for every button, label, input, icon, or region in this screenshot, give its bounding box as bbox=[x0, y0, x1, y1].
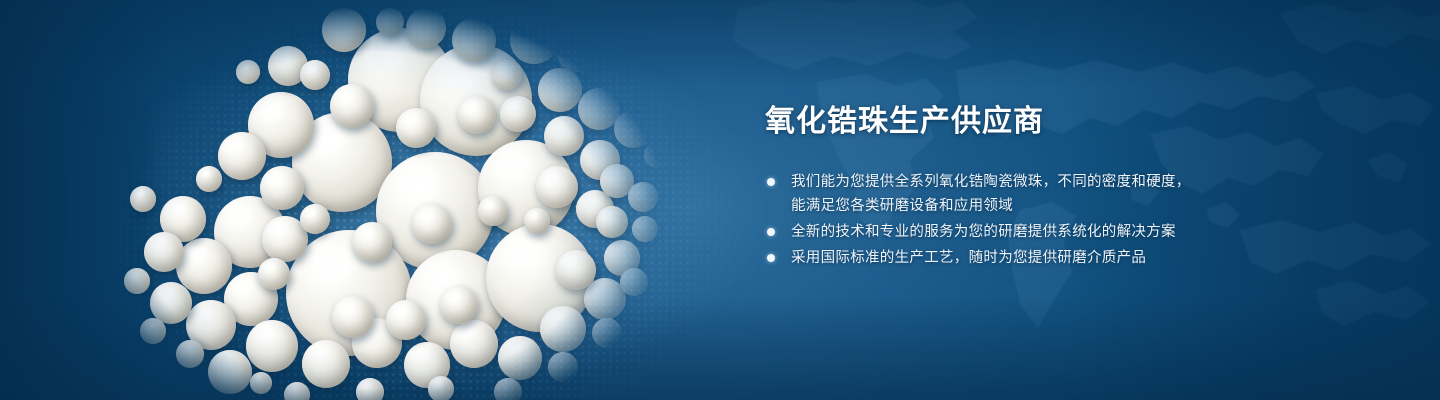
banner-content: 氧化锆珠生产供应商 我们能为您提供全系列氧化锆陶瓷微珠，不同的密度和硬度， 能满… bbox=[765, 104, 1385, 272]
list-item: 全新的技术和专业的服务为您的研磨提供系统化的解决方案 bbox=[765, 220, 1385, 244]
list-item: 我们能为您提供全系列氧化锆陶瓷微珠，不同的密度和硬度， 能满足您各类研磨设备和应… bbox=[765, 170, 1385, 218]
page-title: 氧化锆珠生产供应商 bbox=[765, 104, 1385, 140]
list-item-line: 全新的技术和专业的服务为您的研磨提供系统化的解决方案 bbox=[791, 220, 1385, 244]
list-item-line: 采用国际标准的生产工艺，随时为您提供研磨介质产品 bbox=[791, 246, 1385, 270]
bullet-dot-icon bbox=[767, 254, 775, 262]
zirconia-beads-image bbox=[0, 0, 740, 400]
bullet-dot-icon bbox=[767, 228, 775, 236]
list-item: 采用国际标准的生产工艺，随时为您提供研磨介质产品 bbox=[765, 246, 1385, 270]
feature-list: 我们能为您提供全系列氧化锆陶瓷微珠，不同的密度和硬度， 能满足您各类研磨设备和应… bbox=[765, 170, 1385, 270]
bullet-dot-icon bbox=[767, 178, 775, 186]
list-item-line: 能满足您各类研磨设备和应用领域 bbox=[791, 194, 1385, 218]
list-item-line: 我们能为您提供全系列氧化锆陶瓷微珠，不同的密度和硬度， bbox=[791, 170, 1385, 194]
hero-banner: 氧化锆珠生产供应商 我们能为您提供全系列氧化锆陶瓷微珠，不同的密度和硬度， 能满… bbox=[0, 0, 1440, 400]
